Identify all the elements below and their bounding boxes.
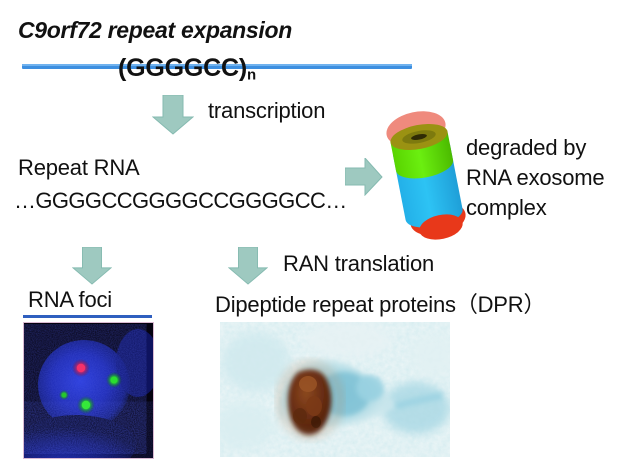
exosome-caption-line-2: RNA exosome: [466, 163, 604, 193]
ran-translation-arrow: [228, 247, 268, 285]
repeat-motif-text: (GGGGCC): [118, 54, 247, 82]
rna-exosome-complex-icon: [378, 103, 478, 243]
exosome-caption-line-3: complex: [466, 193, 604, 223]
transcription-label: transcription: [208, 98, 325, 124]
ran-translation-label: RAN translation: [283, 251, 434, 277]
rna-foci-underline: [23, 315, 152, 318]
rna-foci-micrograph: [23, 322, 154, 459]
dpr-caption: Dipeptide repeat proteins（DPR）: [215, 287, 545, 319]
dpr-micrograph: [220, 322, 450, 457]
repeat-motif-subscript: n: [247, 66, 256, 83]
repeat-motif-label: (GGGGCC)n: [118, 54, 256, 83]
rna-foci-caption: RNA foci: [28, 287, 112, 313]
repeat-rna-sequence: …GGGGCCGGGGCCGGGGCC…: [14, 188, 347, 214]
figure-title: C9orf72 repeat expansion: [18, 17, 292, 44]
exosome-caption: degraded by RNA exosome complex: [466, 133, 604, 223]
repeat-rna-label: Repeat RNA: [18, 155, 140, 181]
exosome-caption-line-1: degraded by: [466, 133, 604, 163]
figure-canvas: C9orf72 repeat expansion (GGGGCC)n trans…: [0, 0, 638, 457]
rna-foci-arrow: [72, 247, 112, 285]
transcription-arrow: [152, 95, 194, 135]
